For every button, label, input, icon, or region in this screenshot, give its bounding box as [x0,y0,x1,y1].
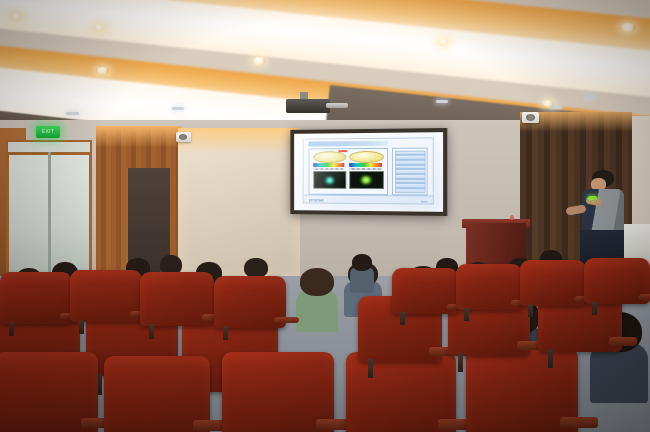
seat-leg [548,349,553,367]
seat-r6-2[interactable] [520,260,586,306]
presenter [578,170,628,262]
left-wall-speaker [176,132,191,142]
seat-leg [9,322,14,337]
slide-control-button-8[interactable] [395,188,425,193]
projection-screen: EPISTAR www [290,128,447,216]
slide-footer-right: www [421,199,428,203]
seat-r2-1[interactable] [104,356,210,432]
audience-member-9 [352,254,372,291]
seat-armrest [560,417,598,428]
seat-leg [464,308,469,321]
emission-image-left [313,171,345,189]
center-panel-glow [178,128,300,154]
downlight-2 [252,57,266,65]
slot-light-4 [551,106,562,109]
ceiling-projector [286,99,330,113]
auditorium-photo: EXIT [0,0,650,432]
audience-member-16-torso [590,343,647,403]
audience-member-9-torso [350,267,375,293]
door-mullion [48,152,51,278]
seat-leg [400,312,405,325]
right-wall-speaker [522,112,539,123]
slide-footer: EPISTAR www [304,195,433,204]
downlight-4 [620,23,636,32]
audience-member-7-torso [296,290,338,332]
exit-sign: EXIT [36,126,60,138]
seat-r3-2[interactable] [466,348,578,432]
seat-leg [458,353,463,371]
grayscale-row-left [313,168,344,170]
presentation-slide: EPISTAR www [303,138,434,205]
audience-member-9-head [352,254,372,271]
lectern-microphone [510,215,514,220]
seat-armrest [609,337,638,346]
seat-r5-1[interactable] [70,270,142,322]
seat-r6-3[interactable] [584,258,650,304]
slide-logo: EPISTAR [309,198,324,202]
slot-light-3 [585,96,596,99]
downlight-3 [436,38,451,46]
audience-member-7 [300,268,334,330]
slot-light-2 [436,100,448,103]
seat-r3-1[interactable] [346,352,456,432]
seat-leg [149,324,154,339]
seat-leg [528,304,533,317]
emission-image-right [349,171,384,189]
slide-title-bar [309,141,388,147]
slot-light-1 [172,107,184,110]
seat-r5-3[interactable] [214,276,286,328]
seat-armrest [274,317,298,324]
left-wall-cove-glow [96,126,182,148]
screen-surface: EPISTAR www [294,132,443,212]
emission-blob-green [360,176,372,183]
wafer-map-left [313,152,345,164]
wafer-map-right [349,151,384,163]
seat-r3-0[interactable] [222,352,334,432]
downlight-0 [8,12,25,21]
audience-member-7-head [300,268,334,296]
grayscale-row-right [349,168,382,170]
audience-member-6-head [244,258,268,278]
seat-leg [79,320,84,335]
seat-leg [223,326,228,341]
slide-red-marker [339,150,348,153]
slot-light-0 [66,112,79,115]
seat-armrest [639,294,650,300]
slide-control-panel[interactable] [392,147,428,195]
slide-main-panel [309,148,388,195]
seat-leg [368,359,373,377]
laser-pointer[interactable] [588,196,597,200]
downlight-1 [92,24,107,32]
seat-r5-2[interactable] [140,272,214,326]
seat-r6-1[interactable] [456,264,522,310]
emission-blob-cyan [325,177,335,184]
seat-r5-0[interactable] [0,272,72,324]
seat-leg [592,302,597,315]
seat-r2-0[interactable] [0,352,98,432]
colorbar-left [313,163,344,167]
seat-r6-0[interactable] [392,268,458,314]
projector-arm [326,103,348,108]
colorbar-right [349,163,382,167]
downlight-5 [96,67,109,74]
